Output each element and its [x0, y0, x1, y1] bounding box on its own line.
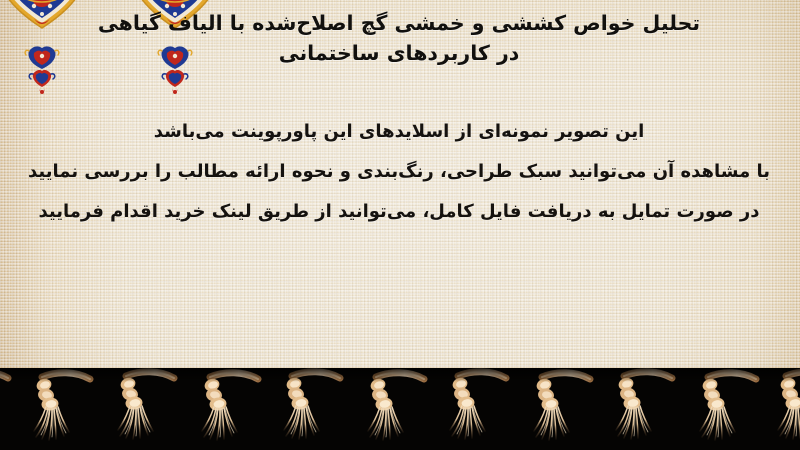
- slide-body: این تصویر نمونه‌ای از اسلایدهای این پاور…: [6, 112, 792, 232]
- slide-body-line-1: این تصویر نمونه‌ای از اسلایدهای این پاور…: [6, 112, 792, 152]
- slide-title-line-1: تحلیل خواص کششی و خمشی گچ اصلاح‌شده با ا…: [6, 8, 792, 38]
- fringe-shadow: [0, 368, 800, 382]
- slide-title: تحلیل خواص کششی و خمشی گچ اصلاح‌شده با ا…: [6, 8, 792, 68]
- slide-body-line-2: با مشاهده آن می‌توانید سبک طراحی، رنگ‌بن…: [6, 152, 792, 192]
- carpet-fringe-band: [0, 368, 800, 450]
- presentation-slide: تحلیل خواص کششی و خمشی گچ اصلاح‌شده با ا…: [0, 0, 800, 450]
- slide-body-line-3: در صورت تمایل به دریافت فایل کامل، می‌تو…: [6, 192, 792, 232]
- slide-title-line-2: در کاربردهای ساختمانی: [6, 38, 792, 68]
